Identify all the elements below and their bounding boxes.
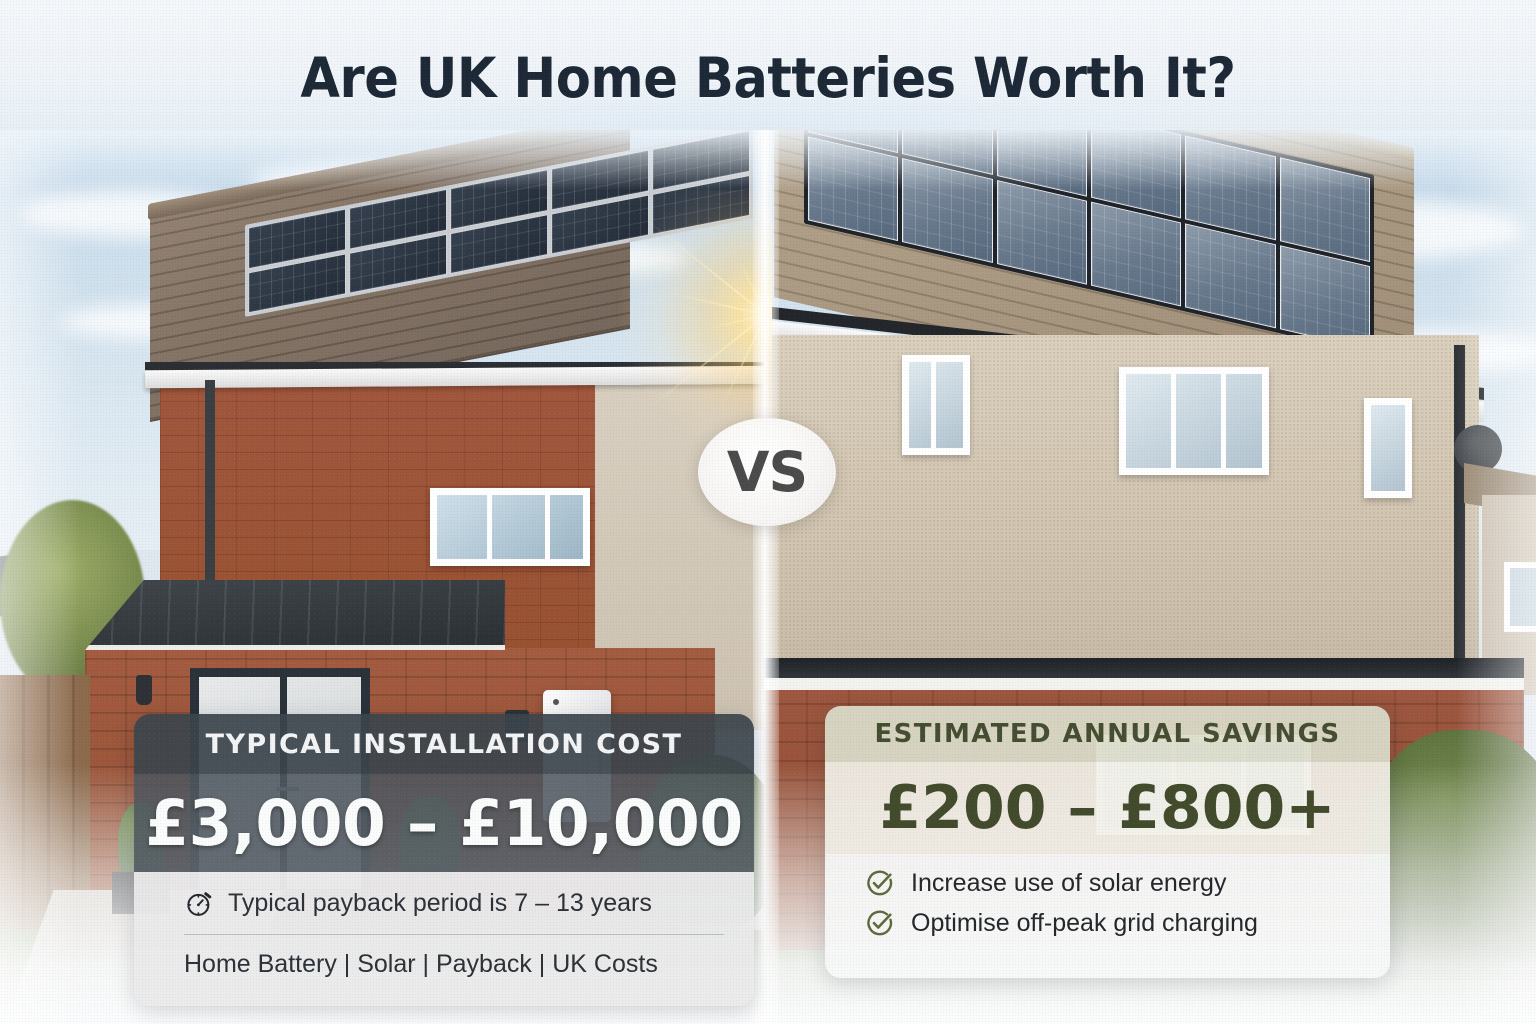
check-circle-icon	[865, 868, 895, 898]
annual-savings-value: £200 – £800+	[879, 773, 1335, 843]
payback-note-row: Typical payback period is 7 – 13 years	[184, 888, 734, 918]
installation-cost-header-label: TYPICAL INSTALLATION COST	[206, 729, 683, 760]
installation-cost-value: £3,000 – £10,000	[145, 787, 742, 860]
annual-savings-header: ESTIMATED ANNUAL SAVINGS	[825, 706, 1390, 762]
benefit-label: Increase use of solar energy	[911, 869, 1226, 898]
neighbour-window	[1504, 562, 1536, 632]
right-window-triple	[1119, 367, 1269, 475]
installation-cost-body: Typical payback period is 7 – 13 years H…	[134, 872, 754, 1006]
stopwatch-icon	[184, 888, 214, 918]
right-window-small	[902, 355, 970, 455]
annual-savings-header-label: ESTIMATED ANNUAL SAVINGS	[874, 719, 1340, 749]
outdoor-wall-lamp	[136, 675, 152, 705]
right-extension-roof	[764, 658, 1524, 680]
benefit-item: Increase use of solar energy	[865, 868, 1372, 898]
left-porch-roof	[85, 580, 505, 650]
vs-badge-label: VS	[727, 440, 807, 504]
installation-cost-value-band: £3,000 – £10,000	[134, 774, 754, 872]
benefit-item: Optimise off-peak grid charging	[865, 908, 1372, 938]
infographic-canvas: Are UK Home Batteries Worth It? VS TYPIC…	[0, 0, 1536, 1024]
page-title: Are UK Home Batteries Worth It?	[54, 46, 1482, 110]
annual-savings-card: ESTIMATED ANNUAL SAVINGS £200 – £800+ In…	[825, 706, 1390, 978]
left-upper-window	[430, 488, 590, 566]
benefit-label: Optimise off-peak grid charging	[911, 909, 1258, 938]
left-downpipe	[205, 380, 215, 590]
payback-note-label: Typical payback period is 7 – 13 years	[228, 889, 652, 918]
keyword-tags: Home Battery | Solar | Payback | UK Cost…	[184, 950, 734, 979]
card-divider-rule	[184, 934, 724, 935]
center-divider	[753, 130, 779, 1024]
right-window-narrow	[1364, 398, 1412, 498]
annual-savings-value-band: £200 – £800+	[825, 762, 1390, 854]
installation-cost-header: TYPICAL INSTALLATION COST	[134, 714, 754, 774]
vs-badge: VS	[698, 418, 836, 526]
check-circle-icon	[865, 908, 895, 938]
annual-savings-body: Increase use of solar energy Optimise of…	[825, 854, 1390, 978]
installation-cost-card: TYPICAL INSTALLATION COST £3,000 – £10,0…	[134, 714, 754, 1006]
